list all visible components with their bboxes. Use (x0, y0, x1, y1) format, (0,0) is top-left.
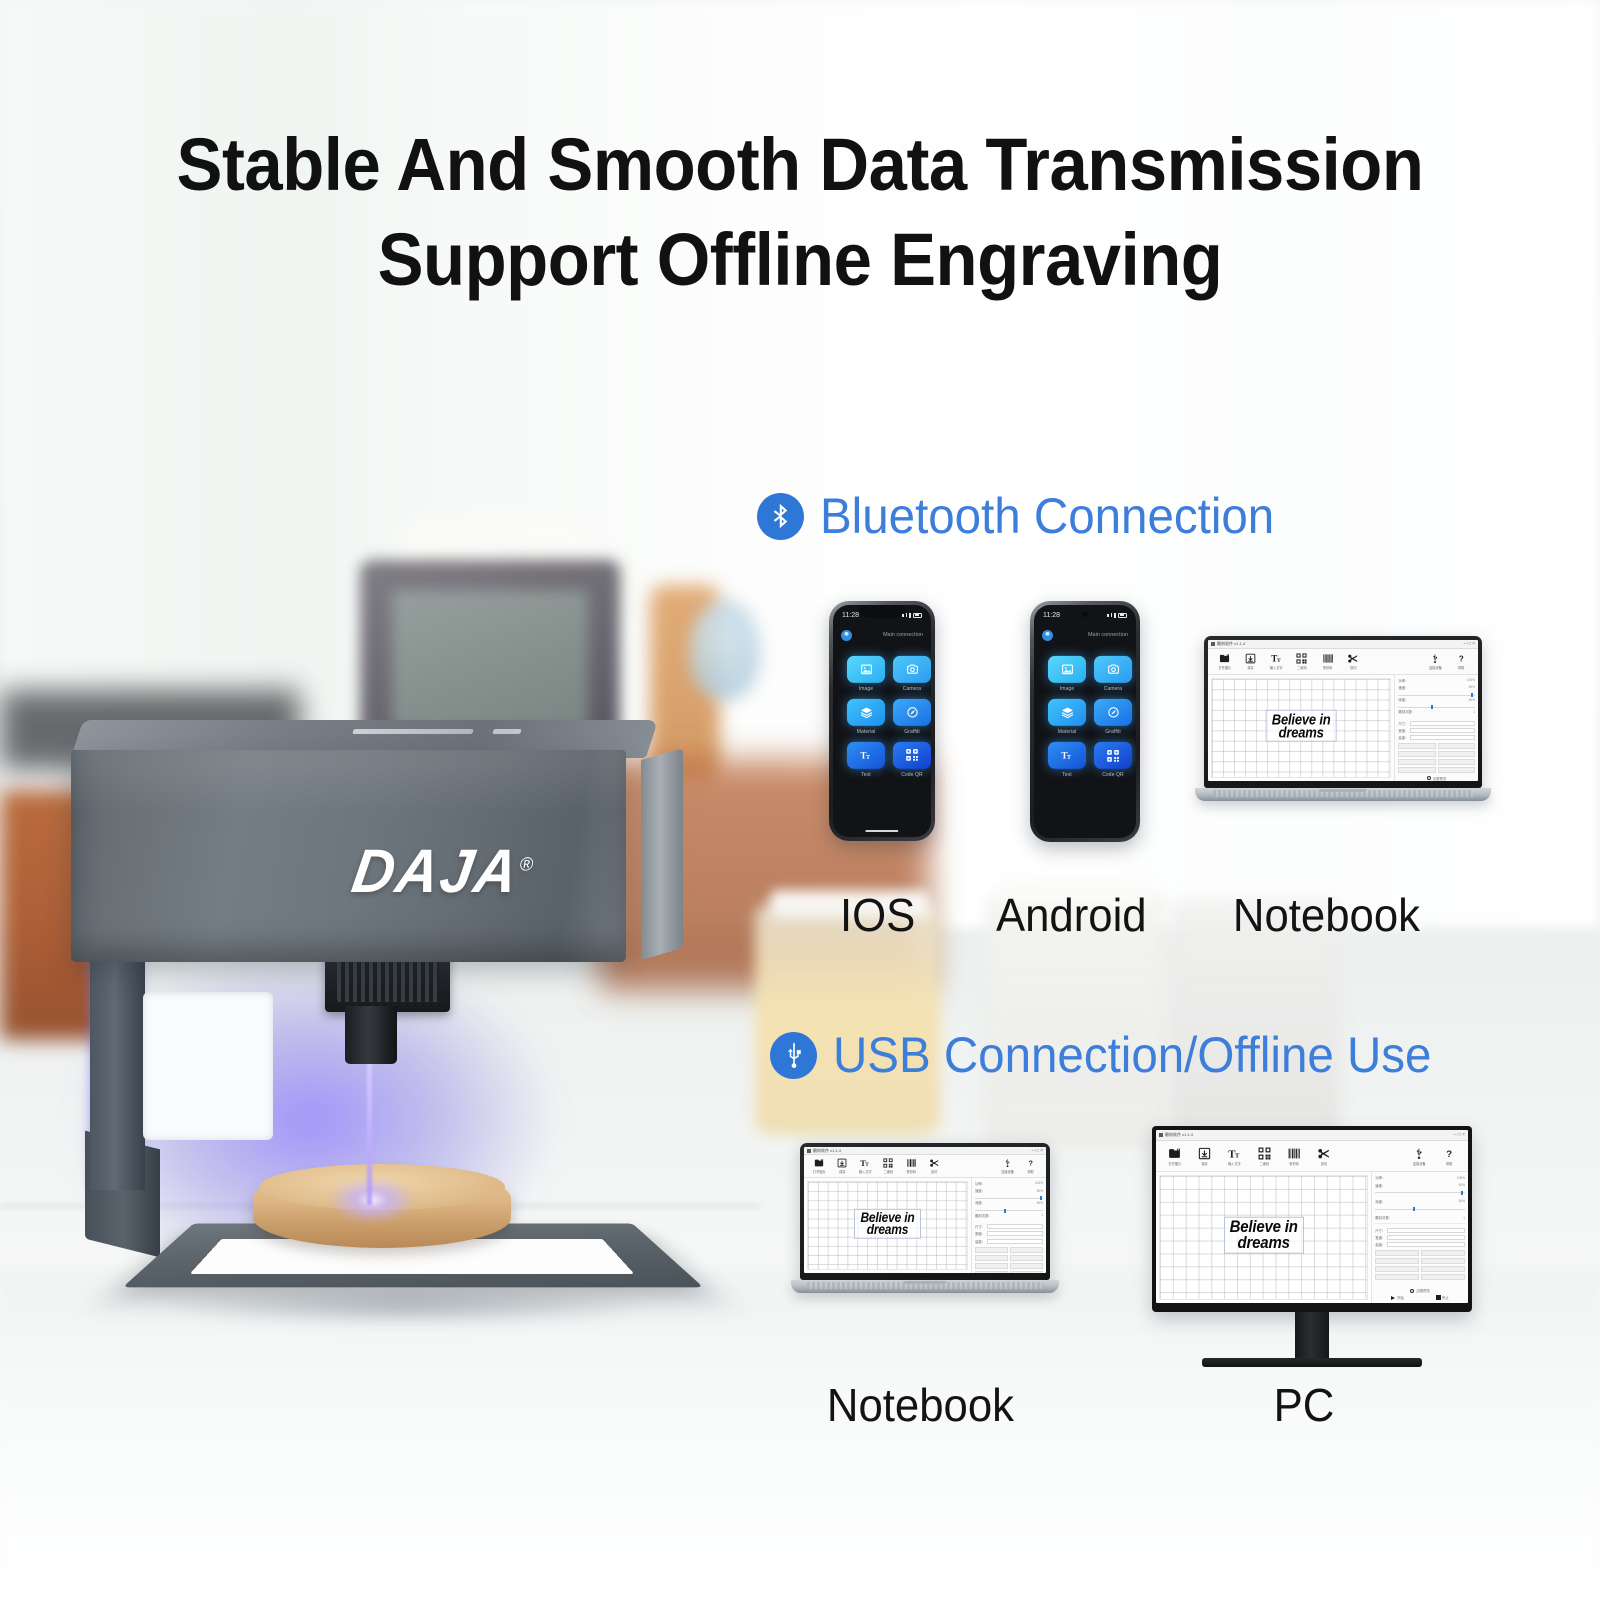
properties-panel: 功率： 100% 速度： 50% 深度： 50% (971, 1178, 1046, 1273)
device-phone-android: 11:28 Main connection Image (1030, 601, 1140, 842)
engraving-software-window: 雕刻软件 v1.1.4 – □ × 打开图片 保存 (1156, 1130, 1468, 1303)
engraver-stand-arm (90, 950, 145, 1190)
panel-label: 功率： (1398, 678, 1408, 683)
panel-label: 尺寸： (1398, 721, 1408, 726)
engraving-canvas[interactable]: Believe in dreams (807, 1181, 968, 1270)
app-tile-text[interactable]: TT Text (1048, 742, 1086, 778)
monitor-base (1202, 1358, 1422, 1367)
toolbar-label: 打开图片 (813, 1169, 826, 1174)
canvas-area[interactable]: Believe in dreams (804, 1178, 971, 1273)
software-title-bar: 雕刻软件 v1.1.4 – □ × (804, 1147, 1046, 1155)
align-button[interactable] (1398, 751, 1435, 757)
panel-row-speed[interactable]: 速度： 50% (975, 1188, 1043, 1193)
text-icon: TT (1227, 1147, 1242, 1160)
canvas-artwork[interactable]: Believe in dreams (1224, 1217, 1304, 1254)
qr-code-icon (1258, 1147, 1271, 1160)
user-avatar-icon[interactable] (841, 630, 852, 641)
app-tile-code-qr[interactable]: Code QR (893, 742, 931, 778)
toolbar-label: 帮助 (1027, 1169, 1033, 1174)
app-tile-label: Camera (903, 686, 921, 692)
toolbar-label: 二维码 (1260, 1161, 1270, 1166)
phone-screen-ios: 11:28 Main connection Image (833, 605, 931, 837)
device-laptop-bluetooth: 雕刻软件 v1.1.4 – □ × 打开图片 保存 (1204, 636, 1482, 801)
align-button[interactable] (1421, 1274, 1465, 1280)
panel-label: 速度： (1398, 685, 1408, 690)
barcode-icon (906, 1158, 917, 1168)
headline-line-2: Support Offline Engraving (56, 213, 1544, 308)
panel-row-depth[interactable]: 深度： 50% (1398, 697, 1475, 702)
align-button-grid (1375, 1250, 1465, 1280)
panel-footer: 边框预览 开始 停止 (1398, 776, 1475, 781)
toolbar-button-cut[interactable]: 剪切 (923, 1158, 946, 1174)
toolbar-label: 剪切 (1350, 665, 1356, 670)
align-button[interactable] (1398, 767, 1435, 773)
status-icons (902, 613, 922, 618)
align-button[interactable] (1421, 1250, 1465, 1256)
start-button[interactable]: 开始 (1391, 1295, 1403, 1300)
app-tile-camera[interactable]: Camera (1094, 656, 1132, 692)
panel-label: 尺寸： (1375, 1228, 1385, 1233)
engraver-head: DAJA® (53, 720, 673, 965)
preview-label: 边框预览 (1416, 1288, 1430, 1293)
svg-text:T: T (1067, 755, 1071, 761)
panel-label: 宽度： (975, 1231, 985, 1236)
text-tool-icon: TT (847, 742, 885, 769)
toolbar-button-barcode[interactable]: 条形码 (900, 1158, 923, 1174)
align-button[interactable] (975, 1255, 1008, 1261)
canvas-artwork[interactable]: Believe in dreams (854, 1208, 920, 1238)
panel-value: 50% (1037, 1201, 1043, 1205)
align-button[interactable] (975, 1271, 1008, 1273)
height-input[interactable] (1410, 735, 1475, 740)
app-tile-label: Material (1058, 729, 1077, 735)
toolbar-label: 剪切 (931, 1169, 937, 1174)
phone-status-bar: 11:28 (833, 608, 931, 622)
panel-label: 深度： (975, 1200, 985, 1205)
text-icon: TT (1270, 653, 1283, 664)
toolbar-button-cut[interactable]: 剪切 (1309, 1147, 1339, 1166)
app-header: Main connection (1034, 627, 1136, 643)
app-tile-label: Graffiti (1105, 729, 1120, 735)
toolbar-label: 帮助 (1446, 1161, 1452, 1166)
software-toolbar: 打开图片 保存 TT 输入文字 (1208, 649, 1478, 674)
phone-screen-android: 11:28 Main connection Image (1034, 605, 1136, 838)
device-label-ios: IOS (840, 888, 915, 942)
panel-label: 功率： (975, 1181, 985, 1186)
panel-label: 尺寸： (975, 1224, 985, 1229)
help-icon: ? (1457, 653, 1466, 664)
app-tile-camera[interactable]: Camera (893, 656, 931, 692)
page-headline: Stable And Smooth Data Transmission Supp… (56, 118, 1544, 307)
svg-text:?: ? (1028, 1161, 1032, 1168)
laser-beam (367, 1060, 372, 1205)
svg-text:T: T (866, 1163, 870, 1168)
battery-icon (1118, 613, 1127, 618)
panel-row-width[interactable]: 宽度： (1375, 1235, 1465, 1240)
laptop-lid: 雕刻软件 v1.1.4 – □ × 打开图片 保存 (800, 1143, 1050, 1280)
action-buttons: 开始 停止 (1375, 1295, 1465, 1300)
slider-depth[interactable] (1375, 1207, 1465, 1211)
toolbar-label: 二维码 (884, 1169, 894, 1174)
panel-label: 深度： (1375, 1199, 1385, 1204)
panel-value: 100% (1457, 1176, 1465, 1180)
align-button[interactable] (1398, 743, 1435, 749)
laptop-keyboard (1213, 790, 1474, 797)
panel-row-height[interactable]: 高度： (975, 1239, 1043, 1244)
status-icons (1107, 613, 1127, 618)
toolbar-button-open-image[interactable]: 打开图片 (808, 1158, 831, 1174)
laptop-keyboard (807, 1282, 1043, 1289)
app-tile-label: Image (1060, 686, 1074, 692)
panel-row-height[interactable]: 高度： (1375, 1242, 1465, 1247)
engraver-stand-window (143, 992, 273, 1140)
toolbar-label: 条形码 (1289, 1161, 1299, 1166)
section-header-bluetooth: Bluetooth Connection (757, 487, 1298, 545)
toolbar-button-connect-device[interactable]: 连接设备 (1404, 1147, 1434, 1166)
window-controls[interactable]: – □ × (1464, 641, 1476, 647)
toolbar-button-cut[interactable]: 剪切 (1340, 653, 1366, 670)
align-button[interactable] (975, 1247, 1008, 1253)
device-label-notebook-bt: Notebook (1233, 888, 1420, 942)
panel-label: 高度： (975, 1239, 985, 1244)
toolbar-button-barcode[interactable]: 条形码 (1279, 1147, 1309, 1166)
device-label-android: Android (996, 888, 1147, 942)
align-button[interactable] (1438, 743, 1475, 749)
palette-icon (1094, 699, 1132, 726)
app-tile-text[interactable]: TT Text (847, 742, 885, 778)
product-laser-engraver: DAJA® (45, 700, 725, 1320)
toolbar-button-connect-device[interactable]: 连接设备 (996, 1158, 1019, 1174)
preview-label: 边框预览 (1433, 776, 1447, 781)
canvas-area[interactable]: Believe in dreams (1156, 1172, 1371, 1303)
size-input[interactable] (1410, 721, 1475, 726)
battery-icon (913, 613, 922, 618)
engraver-vent-secondary (492, 729, 522, 734)
stop-label: 停止 (1442, 1295, 1449, 1300)
window-controls[interactable]: – □ × (1454, 1132, 1466, 1138)
app-tile-graffiti[interactable]: Graffiti (1094, 699, 1132, 735)
brand-logo: DAJA® (347, 836, 539, 907)
toolbar-label: 连接设备 (1001, 1169, 1014, 1174)
engraving-software-window: 雕刻软件 v1.1.4 – □ × 打开图片 保存 (804, 1147, 1046, 1273)
app-tile-graffiti[interactable]: Graffiti (893, 699, 931, 735)
app-header: Main connection (833, 627, 931, 643)
panel-row-repeat[interactable]: 雕刻次数： 1 (975, 1213, 1043, 1218)
toolbar-button-help[interactable]: ? 帮助 (1448, 653, 1474, 670)
text-icon: TT (859, 1158, 871, 1168)
picture-icon (1048, 656, 1086, 683)
engraver-vent (352, 729, 474, 734)
toolbar-label: 保存 (1247, 665, 1253, 670)
engraver-shadow (155, 1285, 655, 1327)
align-button[interactable] (1010, 1271, 1043, 1273)
barcode-icon (1287, 1147, 1301, 1160)
panel-label: 功率： (1375, 1175, 1385, 1180)
app-tile-label: Graffiti (904, 729, 919, 735)
software-body: Believe in dreams 功率： 100% 速度： 50% (1156, 1172, 1468, 1303)
qr-code-icon (883, 1158, 893, 1168)
width-input[interactable] (1410, 728, 1475, 733)
app-logo-icon (1159, 1133, 1163, 1137)
app-tile-material[interactable]: Material (847, 699, 885, 735)
panel-row-power[interactable]: 功率： 100% (975, 1181, 1043, 1186)
app-tile-material[interactable]: Material (1048, 699, 1086, 735)
toolbar-label: 连接设备 (1429, 665, 1442, 670)
panel-value: 50% (1459, 1199, 1465, 1203)
panel-label: 宽度： (1375, 1235, 1385, 1240)
qr-code-icon (893, 742, 931, 769)
toolbar-label: 输入文字 (1270, 665, 1283, 670)
engraving-canvas[interactable]: Believe in dreams (1211, 678, 1391, 778)
app-tile-label: Text (1062, 772, 1072, 778)
toolbar-label: 保存 (1202, 1161, 1208, 1166)
height-input[interactable] (987, 1239, 1043, 1244)
align-button[interactable] (1375, 1266, 1419, 1272)
align-button[interactable] (1421, 1258, 1465, 1264)
app-connection-status[interactable]: Main connection (1088, 632, 1128, 638)
headline-line-1: Stable And Smooth Data Transmission (177, 123, 1424, 206)
device-label-notebook-usb: Notebook (827, 1378, 1014, 1432)
align-button-grid (975, 1247, 1043, 1273)
start-label: 开始 (1397, 1295, 1404, 1300)
toolbar-button-save[interactable]: 保存 (1190, 1147, 1220, 1166)
help-icon: ? (1444, 1147, 1455, 1160)
window-controls[interactable]: – □ × (1032, 1148, 1044, 1154)
toolbar-label: 打开图片 (1169, 1161, 1182, 1166)
properties-panel: 功率： 100% 速度： 50% 深度： 50% (1394, 675, 1478, 781)
preview-toggle[interactable]: 边框预览 (1375, 1288, 1465, 1293)
brand-name: DAJA (348, 837, 525, 906)
radio-icon (1410, 1289, 1414, 1293)
engraving-canvas[interactable]: Believe in dreams (1159, 1175, 1368, 1300)
monitor-stand (1295, 1312, 1329, 1358)
panel-row-width[interactable]: 宽度： (975, 1231, 1043, 1236)
stop-icon (1436, 1295, 1440, 1299)
toolbar-label: 帮助 (1458, 665, 1464, 670)
svg-text:?: ? (1459, 654, 1464, 663)
software-title-bar: 雕刻软件 v1.1.4 – □ × (1208, 640, 1478, 649)
toolbar-label: 条形码 (1323, 665, 1333, 670)
toolbar-button-save[interactable]: 保存 (1238, 653, 1264, 670)
canvas-text-line-2: dreams (860, 1223, 914, 1237)
toolbar-label: 二维码 (1297, 665, 1307, 670)
panel-row-depth[interactable]: 深度： 50% (1375, 1199, 1465, 1204)
toolbar-button-barcode[interactable]: 条形码 (1315, 653, 1341, 670)
panel-row-power[interactable]: 功率： 100% (1375, 1175, 1465, 1180)
palette-icon (893, 699, 931, 726)
open-image-icon (813, 1158, 825, 1168)
section-title-usb: USB Connection/Offline Use (833, 1026, 1431, 1084)
width-input[interactable] (987, 1231, 1043, 1236)
play-icon (1391, 1296, 1395, 1300)
panel-row-size[interactable]: 尺寸： (975, 1224, 1043, 1229)
align-button[interactable] (975, 1263, 1008, 1269)
engraver-front-panel (71, 750, 626, 962)
bluetooth-icon (757, 493, 804, 540)
panel-row-speed[interactable]: 速度： 50% (1398, 685, 1475, 690)
background-kettle (690, 600, 760, 700)
device-laptop-usb: 雕刻软件 v1.1.4 – □ × 打开图片 保存 (800, 1143, 1050, 1293)
panel-label: 速度： (1375, 1183, 1385, 1188)
software-toolbar: 打开图片 保存 TT 输入文字 (1156, 1141, 1468, 1172)
align-button[interactable] (1421, 1266, 1465, 1272)
canvas-artwork[interactable]: Believe in dreams (1266, 710, 1337, 743)
phone-status-bar: 11:28 (1034, 608, 1136, 622)
align-button[interactable] (1375, 1258, 1419, 1264)
panel-value: 50% (1469, 685, 1475, 689)
svg-text:T: T (1277, 658, 1281, 664)
software-window-title: 雕刻软件 v1.1.4 (1217, 641, 1245, 647)
app-tile-label: Code QR (1102, 772, 1124, 778)
laptop-screen: 雕刻软件 v1.1.4 – □ × 打开图片 保存 (804, 1147, 1046, 1273)
laser-spot (327, 1176, 417, 1224)
panel-label: 宽度： (1398, 728, 1408, 733)
camera-icon (1094, 656, 1132, 683)
phone-frame: 11:28 Main connection Image (1030, 601, 1140, 842)
usb-plug-icon (1430, 653, 1440, 664)
laptop-base (1195, 788, 1491, 801)
toolbar-label: 输入文字 (1228, 1161, 1241, 1166)
app-tile-grid: Image Camera Material (1034, 656, 1136, 778)
engraving-software-window: 雕刻软件 v1.1.4 – □ × 打开图片 保存 (1208, 640, 1478, 781)
app-tile-image[interactable]: Image (1048, 656, 1086, 692)
toolbar-button-text[interactable]: TT 输入文字 (1263, 653, 1289, 670)
toolbar-button-text[interactable]: TT 输入文字 (854, 1158, 877, 1174)
toolbar-button-save[interactable]: 保存 (831, 1158, 854, 1174)
toolbar-label: 保存 (839, 1169, 845, 1174)
barcode-icon (1322, 653, 1334, 664)
laptop-base (791, 1280, 1059, 1293)
usb-plug-icon (1003, 1158, 1012, 1168)
toolbar-button-open-image[interactable]: 打开图片 (1212, 653, 1238, 670)
panel-row-size[interactable]: 尺寸： (1398, 721, 1475, 726)
phone-frame: 11:28 Main connection Image (829, 601, 935, 841)
panel-label: 雕刻次数： (1398, 709, 1415, 714)
panel-label: 深度： (1398, 697, 1408, 702)
layers-icon (847, 699, 885, 726)
toolbar-button-qr-code[interactable]: 二维码 (1289, 653, 1315, 670)
size-input[interactable] (1387, 1228, 1465, 1233)
panel-row-power[interactable]: 功率： 100% (1398, 678, 1475, 683)
scissors-icon (1347, 653, 1359, 664)
panel-label: 高度： (1375, 1242, 1385, 1247)
align-button[interactable] (1375, 1274, 1419, 1280)
height-input[interactable] (1387, 1242, 1465, 1247)
size-input[interactable] (987, 1224, 1043, 1229)
app-tile-code-qr[interactable]: Code QR (1094, 742, 1132, 778)
laser-lens-barrel (345, 1006, 397, 1064)
toolbar-button-text[interactable]: TT 输入文字 (1220, 1147, 1250, 1166)
camera-icon (893, 656, 931, 683)
align-button[interactable] (1010, 1255, 1043, 1261)
app-tile-image[interactable]: Image (847, 656, 885, 692)
align-button[interactable] (1438, 759, 1475, 765)
toolbar-button-open-image[interactable]: 打开图片 (1160, 1147, 1190, 1166)
align-button[interactable] (1375, 1250, 1419, 1256)
canvas-text-line-2: dreams (1230, 1234, 1298, 1251)
width-input[interactable] (1387, 1235, 1465, 1240)
panel-value: 100% (1035, 1181, 1043, 1185)
panel-footer: 边框预览 开始 停止 (1375, 1288, 1465, 1300)
align-button[interactable] (1010, 1247, 1043, 1253)
panel-value: 1 (1473, 710, 1475, 714)
toolbar-button-connect-device[interactable]: 连接设备 (1423, 653, 1449, 670)
panel-value: 1 (1463, 1216, 1465, 1220)
radio-icon (1427, 776, 1431, 780)
panel-row-speed[interactable]: 速度： 50% (1375, 1183, 1465, 1188)
panel-value: 50% (1469, 698, 1475, 702)
toolbar-label: 条形码 (906, 1169, 916, 1174)
panel-value: 50% (1459, 1183, 1465, 1187)
usb-plug-icon (1413, 1147, 1425, 1160)
align-button[interactable] (1438, 751, 1475, 757)
toolbar-button-help[interactable]: ? 帮助 (1434, 1147, 1464, 1166)
svg-text:T: T (866, 755, 870, 761)
panel-value: 1 (1041, 1213, 1043, 1217)
app-connection-status[interactable]: Main connection (883, 632, 923, 638)
panel-row-size[interactable]: 尺寸： (1375, 1228, 1465, 1233)
laptop-screen: 雕刻软件 v1.1.4 – □ × 打开图片 保存 (1208, 640, 1478, 781)
toolbar-label: 连接设备 (1413, 1161, 1426, 1166)
stop-button[interactable]: 停止 (1436, 1295, 1449, 1300)
toolbar-button-qr-code[interactable]: 二维码 (877, 1158, 900, 1174)
panel-row-depth[interactable]: 深度： 50% (975, 1200, 1043, 1205)
software-window-title: 雕刻软件 v1.1.4 (1165, 1132, 1193, 1138)
canvas-area[interactable]: Believe in dreams (1208, 675, 1394, 781)
section-header-usb: USB Connection/Offline Use (770, 1026, 1463, 1084)
panel-value: 100% (1467, 678, 1475, 682)
preview-toggle[interactable]: 边框预览 (1398, 776, 1475, 781)
scissors-icon (929, 1158, 940, 1168)
align-button[interactable] (1398, 759, 1435, 765)
text-tool-icon: TT (1048, 742, 1086, 769)
section-title-bluetooth: Bluetooth Connection (820, 487, 1274, 545)
align-button[interactable] (1010, 1263, 1043, 1269)
monitor-bezel: 雕刻软件 v1.1.4 – □ × 打开图片 保存 (1152, 1126, 1472, 1312)
slider-speed[interactable] (1375, 1191, 1465, 1195)
app-tile-label: Text (861, 772, 871, 778)
panel-row-repeat[interactable]: 雕刻次数： 1 (1375, 1215, 1465, 1220)
software-title-bar: 雕刻软件 v1.1.4 – □ × (1156, 1130, 1468, 1141)
qr-code-icon (1094, 742, 1132, 769)
toolbar-button-qr-code[interactable]: 二维码 (1249, 1147, 1279, 1166)
usb-icon (770, 1032, 817, 1079)
toolbar-button-help[interactable]: ? 帮助 (1019, 1158, 1042, 1174)
panel-row-width[interactable]: 宽度： (1398, 728, 1475, 733)
engraver-side-panel (641, 748, 683, 960)
panel-row-height[interactable]: 高度： (1398, 735, 1475, 740)
align-button[interactable] (1438, 767, 1475, 773)
home-indicator (865, 830, 898, 832)
panel-label: 雕刻次数： (975, 1213, 992, 1218)
software-toolbar: 打开图片 保存 TT 输入文字 (804, 1155, 1046, 1178)
device-pc-monitor: 雕刻软件 v1.1.4 – □ × 打开图片 保存 (1152, 1126, 1472, 1367)
app-tile-label: Code QR (901, 772, 923, 778)
qr-code-icon (1296, 653, 1307, 664)
panel-row-repeat[interactable]: 雕刻次数： 1 (1398, 709, 1475, 714)
svg-text:T: T (1235, 1152, 1240, 1159)
picture-icon (847, 656, 885, 683)
laptop-lid: 雕刻软件 v1.1.4 – □ × 打开图片 保存 (1204, 636, 1482, 788)
canvas-text-line-2: dreams (1272, 725, 1331, 740)
align-button-grid (1398, 743, 1475, 773)
panel-label: 高度： (1398, 735, 1408, 740)
toolbar-label: 打开图片 (1218, 665, 1231, 670)
status-time: 11:28 (842, 612, 859, 619)
download-icon (1245, 653, 1256, 664)
user-avatar-icon[interactable] (1042, 630, 1053, 641)
device-phone-ios: 11:28 Main connection Image (829, 601, 935, 841)
